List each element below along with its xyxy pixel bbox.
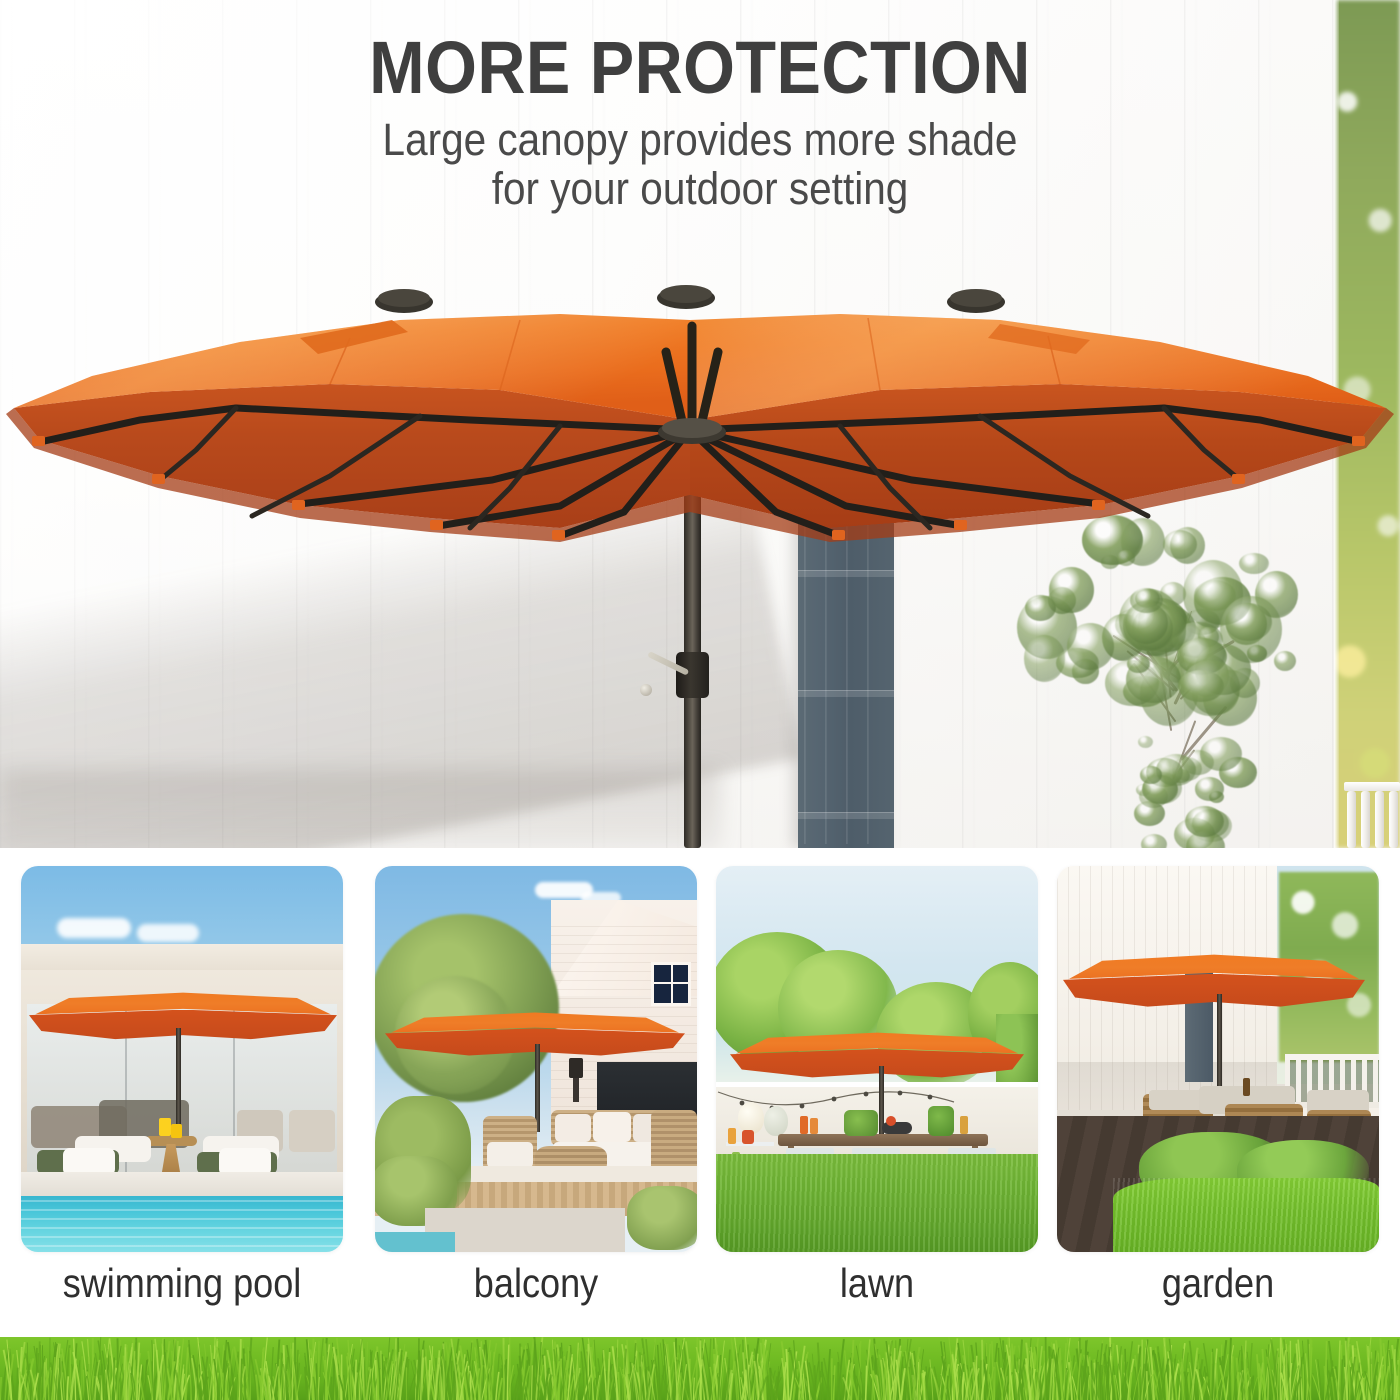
thumbnail-lawn[interactable] <box>716 866 1038 1252</box>
subtitle-line-1: Large canopy provides more shade <box>70 115 1330 165</box>
headline-block: MORE PROTECTION Large canopy provides mo… <box>0 32 1400 214</box>
canopy-top-surface <box>0 280 1400 848</box>
thumbnail-balcony[interactable] <box>375 866 697 1252</box>
caption-garden: garden <box>1076 1260 1359 1307</box>
subtitle-line-2: for your outdoor setting <box>70 164 1330 214</box>
scene-swimming-pool <box>21 866 343 1252</box>
caption-swimming-pool: swimming pool <box>40 1260 323 1307</box>
scene-balcony <box>375 866 697 1252</box>
thumbnail-garden[interactable] <box>1057 866 1379 1252</box>
caption-balcony: balcony <box>394 1260 677 1307</box>
footer-grass-strip <box>0 1337 1400 1400</box>
hero-image: MORE PROTECTION Large canopy provides mo… <box>0 0 1400 848</box>
scene-garden <box>1057 866 1379 1252</box>
caption-lawn: lawn <box>735 1260 1018 1307</box>
scene-lawn <box>716 866 1038 1252</box>
grass-blades <box>0 1337 1400 1400</box>
thumbnail-swimming-pool[interactable] <box>21 866 343 1252</box>
use-case-thumbnail-row: swimming pool balcony lawn garden <box>0 848 1400 1337</box>
page-title: MORE PROTECTION <box>70 32 1330 105</box>
patio-umbrella <box>0 280 1400 848</box>
